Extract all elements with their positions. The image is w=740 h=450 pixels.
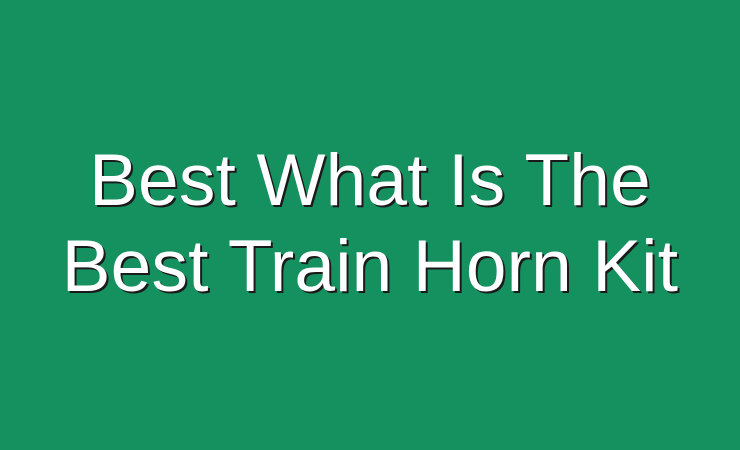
page-title-line-2: Best Train Horn Kit [18,224,722,310]
title-block: Best What Is The Best Train Horn Kit [0,138,740,310]
page-title-line-1: Best What Is The [18,138,722,224]
featured-image-title-card: Best What Is The Best Train Horn Kit [0,0,740,450]
page-title: Best What Is The Best Train Horn Kit [18,138,722,310]
